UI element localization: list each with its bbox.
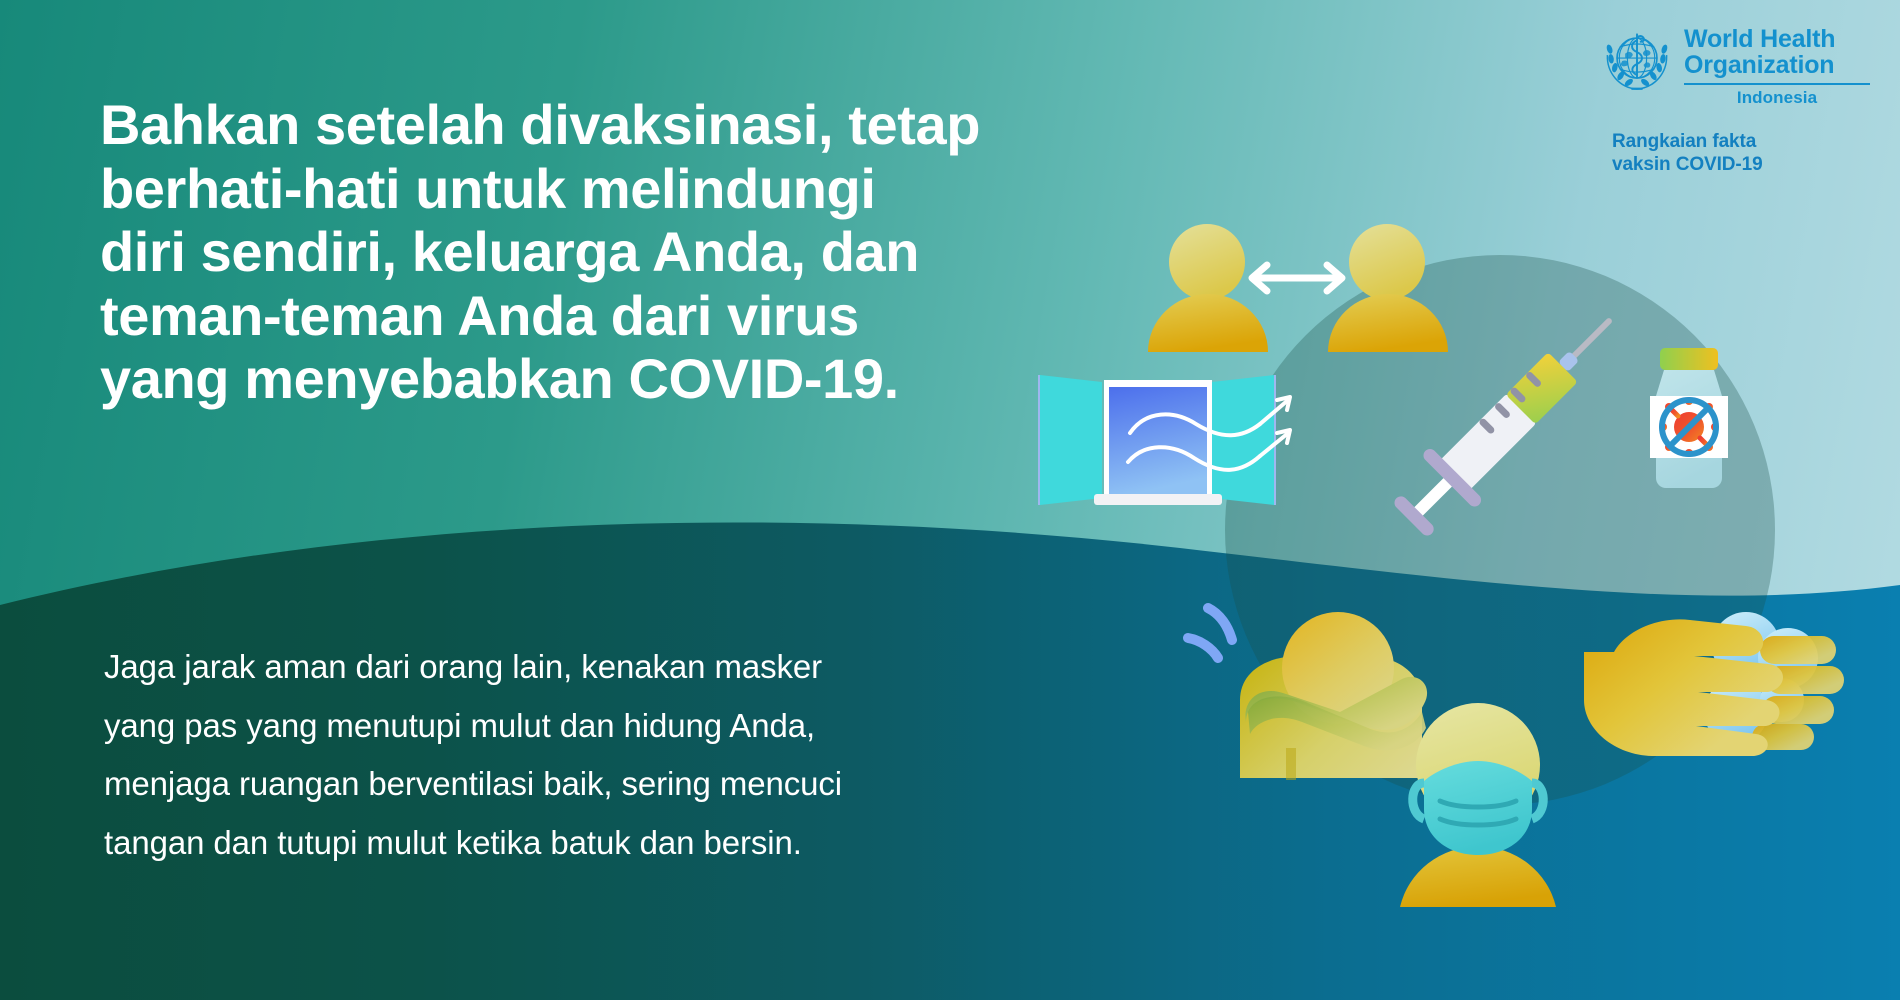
series-tagline: Rangkaian fakta vaksin COVID-19 [1600, 130, 1870, 176]
who-line-2: Organization [1684, 52, 1870, 78]
who-emblem-icon [1600, 24, 1674, 98]
who-divider [1684, 83, 1870, 85]
cough-droplets [1188, 608, 1232, 658]
who-line-1: World Health [1684, 26, 1870, 52]
poster-root: Bahkan setelah divaksinasi, tetap berhat… [0, 0, 1900, 1000]
who-country-label: Indonesia [1684, 88, 1870, 108]
illustration-group [1150, 200, 1870, 900]
page-title: Bahkan setelah divaksinasi, tetap berhat… [100, 93, 1200, 411]
who-wordmark: World Health Organization Indonesia [1684, 22, 1870, 108]
distance-arrow [1252, 265, 1342, 291]
who-logo-block: World Health Organization Indonesia Rang… [1600, 22, 1870, 176]
body-text: Jaga jarak aman dari orang lain, kenakan… [104, 638, 1144, 873]
